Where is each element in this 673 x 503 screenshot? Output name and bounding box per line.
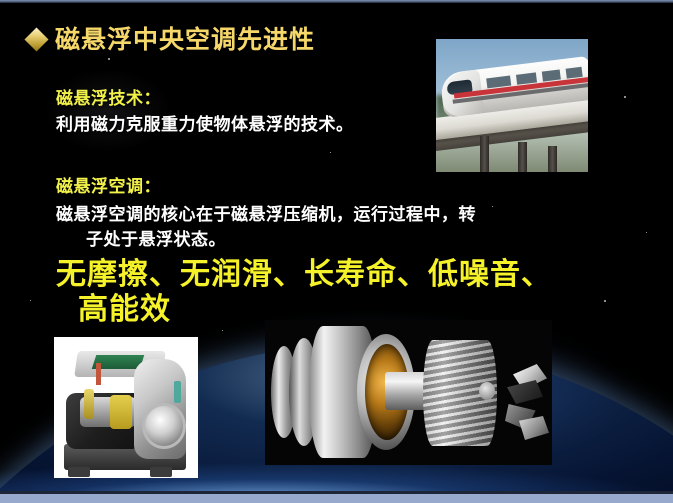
section-1-body-line-1: 利用磁力克服重力使物体悬浮的技术。 bbox=[56, 110, 354, 135]
page-title: 磁悬浮中央空调先进性 bbox=[55, 26, 315, 54]
compressor-foot bbox=[68, 467, 90, 477]
section-1-lead: 磁悬浮技术： bbox=[56, 84, 161, 109]
compressor-red-part bbox=[96, 363, 101, 385]
presentation-slide: 磁悬浮中央空调先进性 磁悬浮技术： 利用磁力克服重力使物体悬浮的技术。 磁悬浮空… bbox=[0, 0, 673, 503]
section-2-body-line-2: 子处于悬浮状态。 bbox=[86, 225, 226, 250]
highlight-line-2: 高能效 bbox=[78, 291, 171, 329]
train-photo-pier bbox=[480, 136, 489, 172]
window-bottom-bar bbox=[0, 494, 673, 503]
train-photo-window bbox=[542, 69, 561, 81]
compressor-coil bbox=[110, 395, 132, 429]
compressor-foot bbox=[150, 467, 172, 477]
section-2-body-line-1: 磁悬浮空调的核心在于磁悬浮压缩机，运行过程中，转 bbox=[56, 200, 476, 225]
slide-title-row: 磁悬浮中央空调先进性 bbox=[28, 26, 315, 54]
train-photo-pier bbox=[518, 142, 527, 172]
section-2-lead: 磁悬浮空调： bbox=[56, 172, 161, 197]
rotor-blade bbox=[507, 380, 543, 404]
train-photo-pier bbox=[548, 146, 557, 172]
magnetic-bearing-rotor-render bbox=[265, 320, 552, 465]
diamond-bullet-icon bbox=[24, 28, 48, 52]
train-photo-window bbox=[566, 66, 583, 78]
train-photo-window bbox=[516, 72, 537, 84]
compressor-teal-part bbox=[174, 381, 181, 403]
rotor-hub bbox=[479, 382, 495, 400]
compressor-coil-left bbox=[84, 389, 94, 419]
maglev-train-photo bbox=[436, 39, 588, 172]
compressor-volute bbox=[142, 403, 186, 449]
compressor-cutaway-photo bbox=[54, 337, 198, 478]
window-top-edge bbox=[0, 0, 673, 3]
highlight-line-1: 无摩擦、无润滑、长寿命、低噪音、 bbox=[56, 256, 552, 294]
